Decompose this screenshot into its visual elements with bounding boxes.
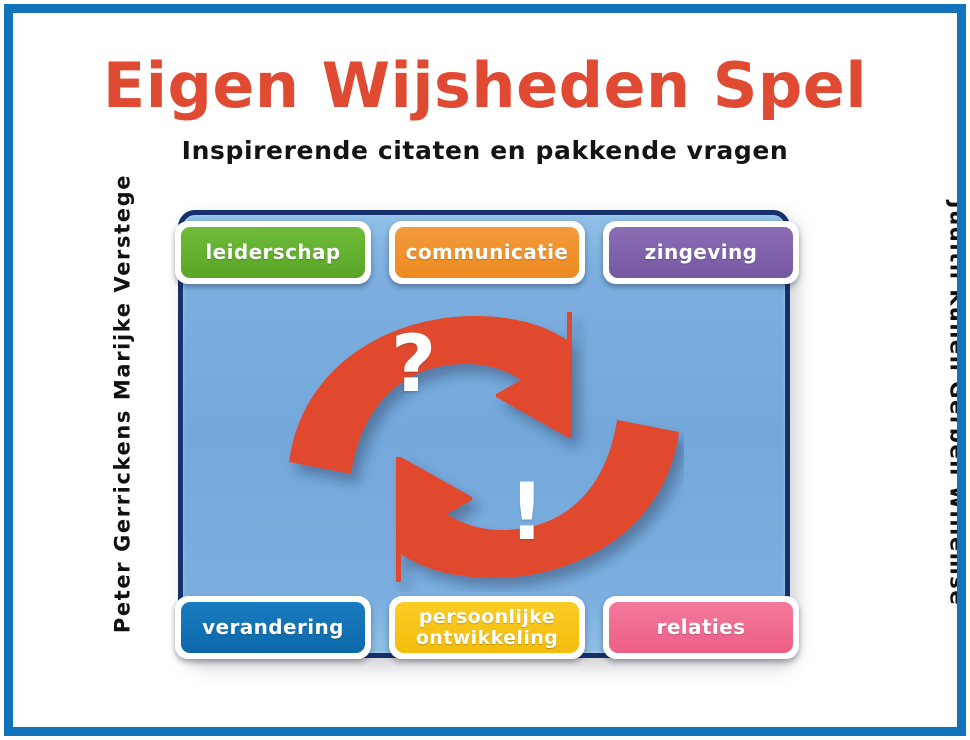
authors-left: Peter Gerrickens Marijke Verstege (113, 174, 134, 634)
category-button-leiderschap[interactable]: leiderschap (175, 221, 371, 284)
category-button-verandering[interactable]: verandering (175, 596, 371, 659)
cycle-arrows-svg (284, 302, 684, 592)
exclamation-mark-label: ! (509, 474, 545, 552)
category-label-relaties: relaties (609, 602, 793, 653)
category-row-top: leiderschap communicatie zingeving (175, 221, 799, 284)
cover-content-area: Eigen Wijsheden Spel Inspirerende citate… (13, 13, 957, 727)
category-label-line2: ontwikkeling (416, 628, 558, 648)
category-button-communicatie[interactable]: communicatie (389, 221, 585, 284)
cover-title: Eigen Wijsheden Spel (13, 55, 957, 117)
question-mark-label: ? (391, 326, 436, 404)
authors-right: Judith Kunen Gerben Willemse (947, 174, 958, 634)
category-button-persoonlijke-ontwikkeling[interactable]: persoonlijke ontwikkeling (389, 596, 585, 659)
category-button-zingeving[interactable]: zingeving (603, 221, 799, 284)
category-panel: leiderschap communicatie zingeving (178, 210, 790, 658)
category-label-communicatie: communicatie (395, 227, 579, 278)
cycle-arrows-graphic: ? ! (284, 302, 684, 592)
cover-subtitle: Inspirerende citaten en pakkende vragen (13, 138, 957, 163)
category-label-line1: persoonlijke (416, 607, 558, 627)
category-label-verandering: verandering (181, 602, 365, 653)
category-label-zingeving: zingeving (609, 227, 793, 278)
category-label-leiderschap: leiderschap (181, 227, 365, 278)
cycle-arrow-shapes (289, 312, 679, 582)
category-label-persoonlijke-ontwikkeling: persoonlijke ontwikkeling (395, 602, 579, 653)
category-button-relaties[interactable]: relaties (603, 596, 799, 659)
category-row-bottom: verandering persoonlijke ontwikkeling re… (175, 596, 799, 659)
book-cover: Eigen Wijsheden Spel Inspirerende citate… (0, 0, 970, 740)
